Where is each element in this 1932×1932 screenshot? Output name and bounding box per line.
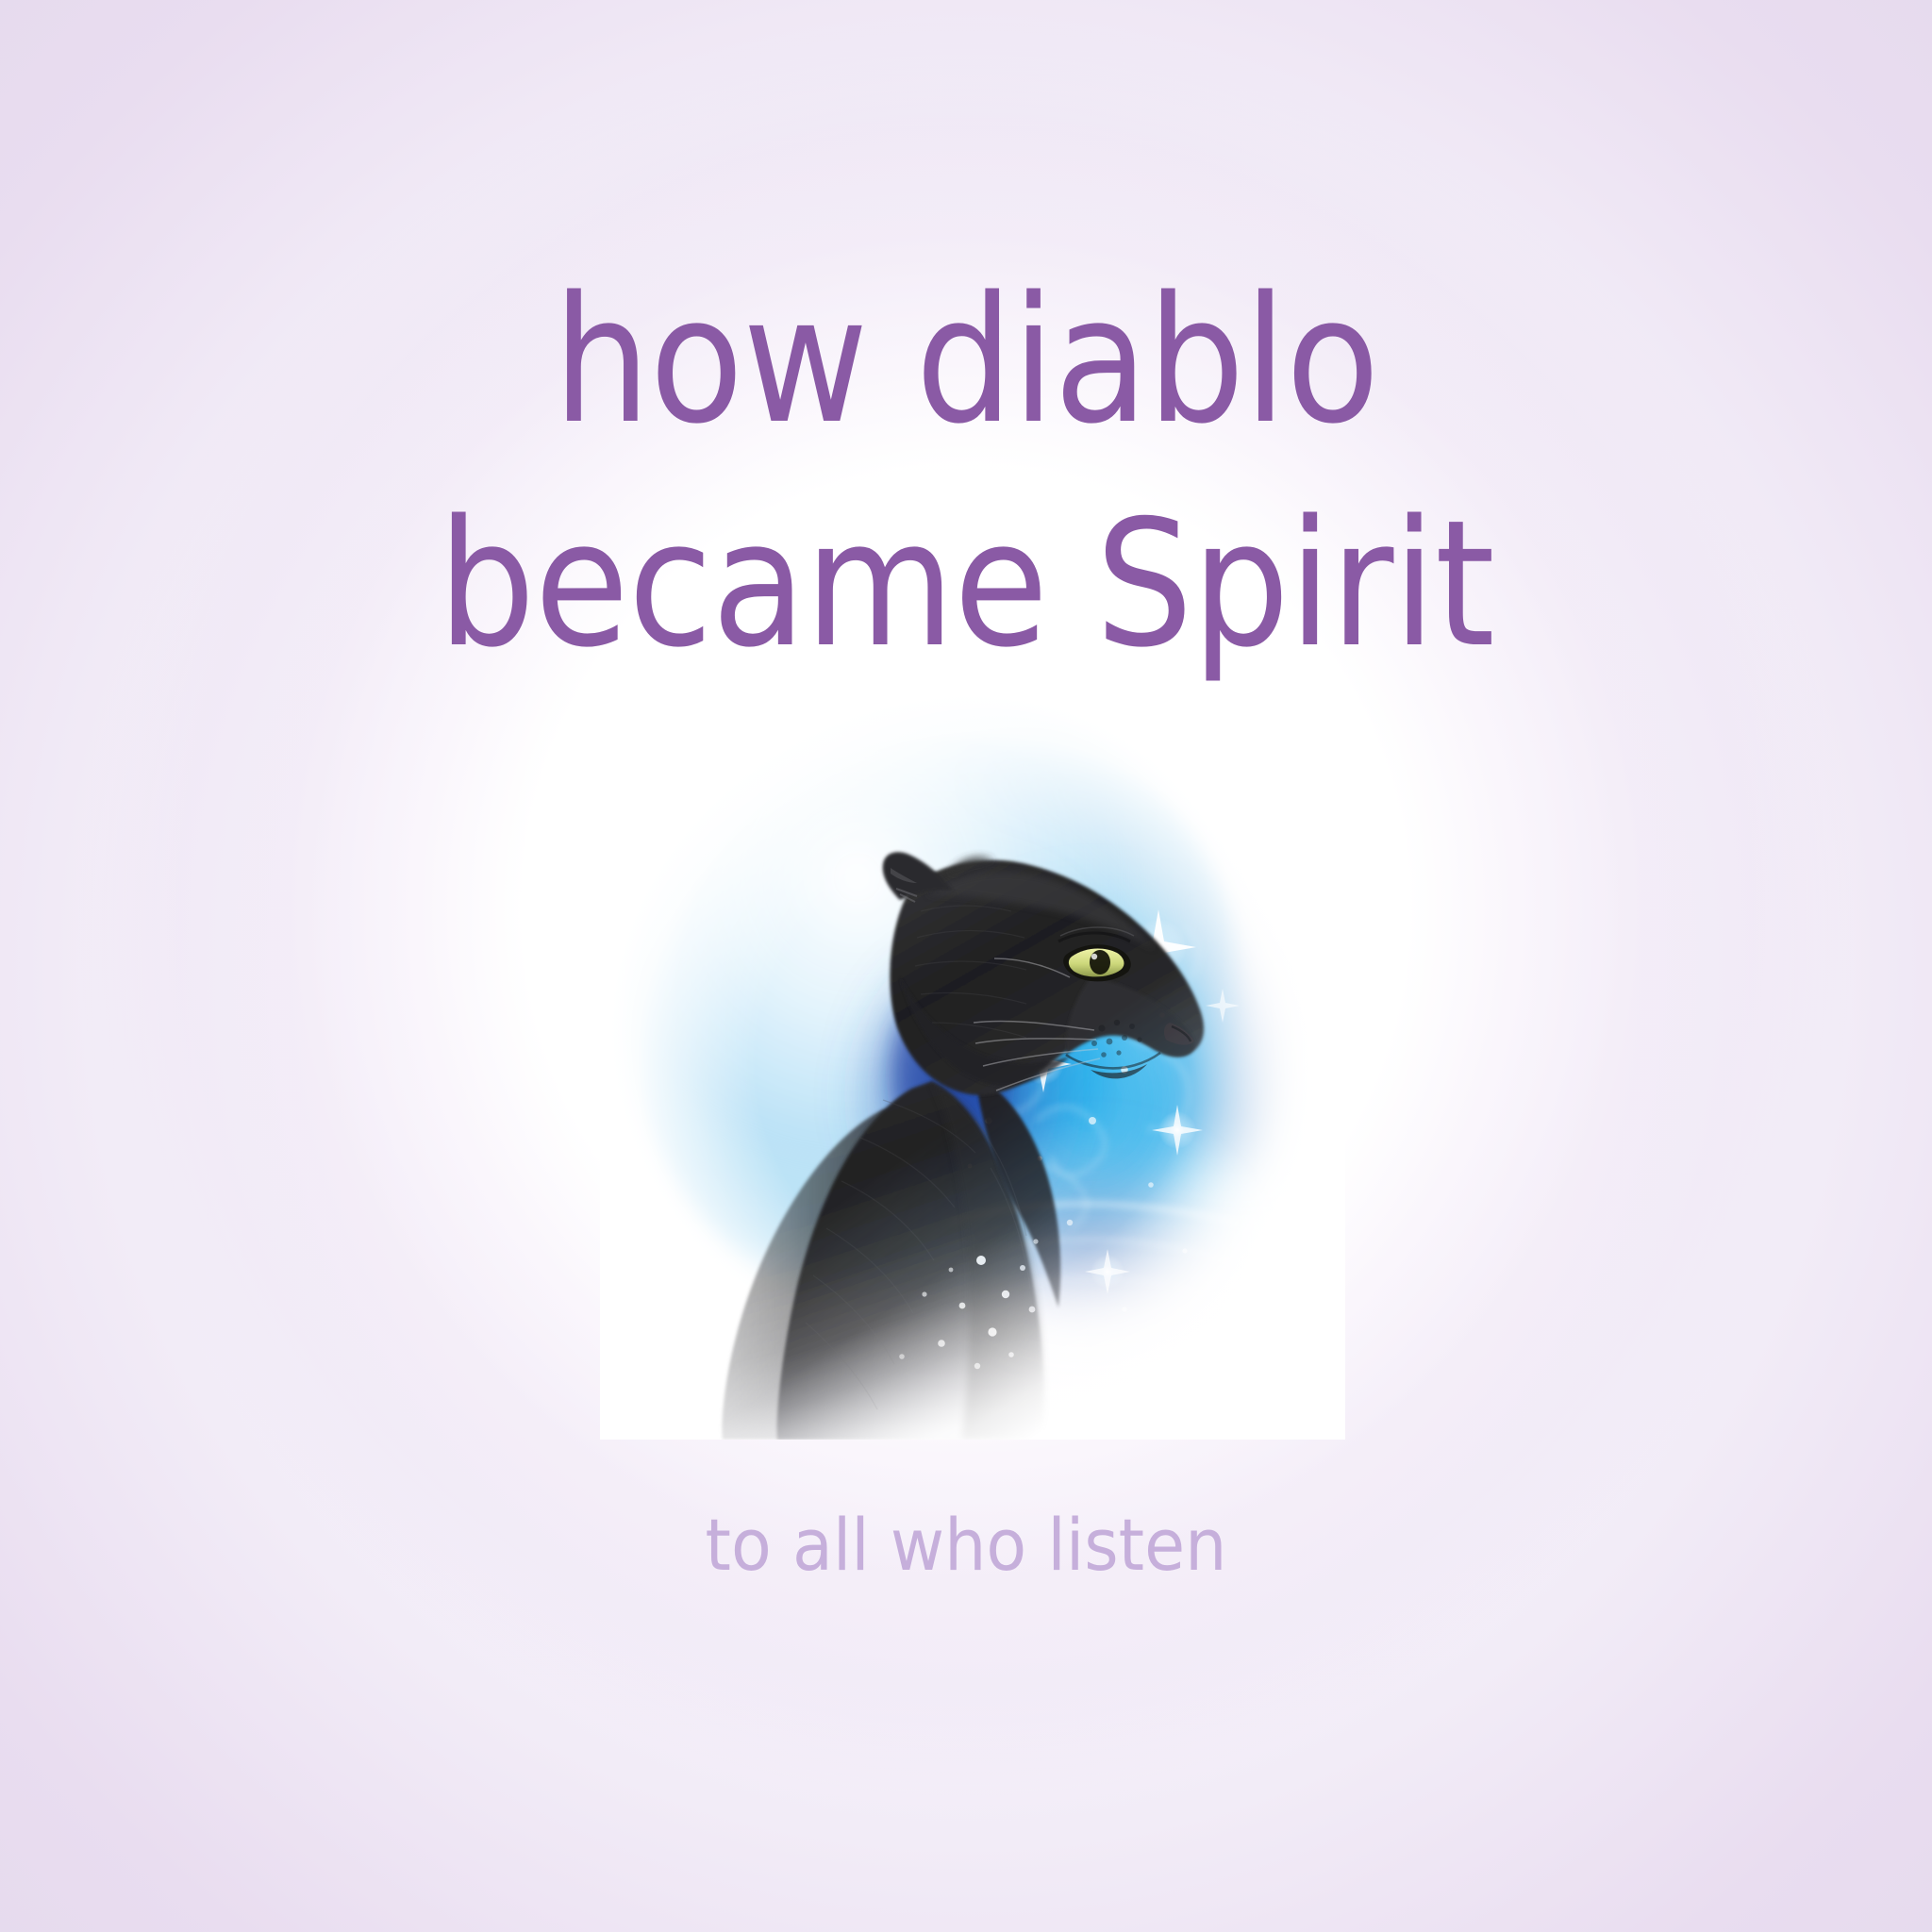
cover-subtitle: to all who listen: [77, 1509, 1855, 1581]
panther-spirit-illustration: [600, 694, 1345, 1440]
book-cover: how diablo became Spirit to all who list…: [0, 0, 1932, 1932]
cover-title: how diablo became Spirit: [0, 274, 1932, 672]
title-line-1: how diablo: [116, 274, 1816, 448]
title-line-2: became Spirit: [116, 497, 1816, 672]
